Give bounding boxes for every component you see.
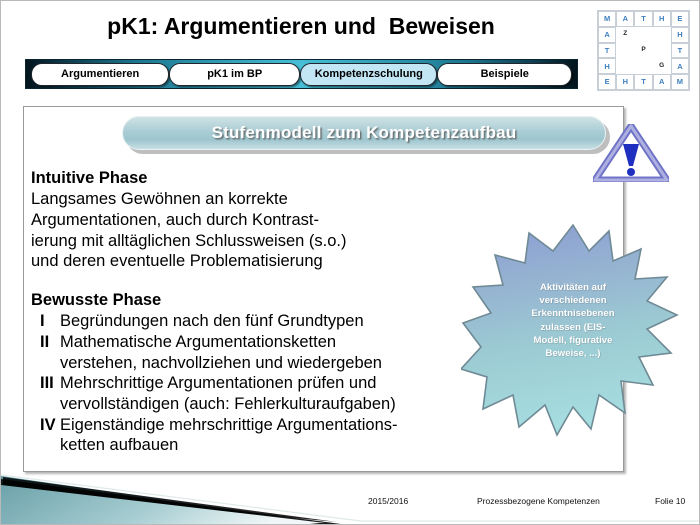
warning-triangle-icon [593,124,669,182]
logo-cell-inner: G [653,58,671,74]
list-item-body: Mathematische Argumentationsketten verst… [60,332,481,373]
section-banner-pill: Stufenmodell zum Kompetenzaufbau [122,116,606,150]
logo-cell-blank [616,58,634,74]
intuitive-phase-line: Langsames Gewöhnen an korrekte [31,189,451,210]
list-item-line: verstehen, nachvollziehen und wiedergebe… [60,353,481,374]
list-item: I Begründungen nach den fünf Grundtypen [31,311,481,332]
navigation-bar: Argumentieren pK1 im BP Kompetenzschulun… [25,59,578,89]
logo-cell: A [671,58,689,74]
bewusste-phase-heading: Bewusste Phase [31,291,481,310]
intuitive-phase-line: und deren eventuelle Problematisierung [31,251,451,272]
mathe-zpg-logo[interactable]: M A T H E A Z H T P T H G A E H T A M [597,10,690,91]
page-title: pK1: Argumentieren und Beweisen [21,13,581,40]
logo-cell: M [598,11,616,27]
logo-cell: A [616,11,634,27]
list-item: III Mehrschrittige Argumentationen prüfe… [31,373,481,414]
star-callout-line: zulassen (EIS- [505,321,641,334]
list-item-body: Eigenständige mehrschrittige Argumentati… [60,415,481,456]
bewusste-phase-list: I Begründungen nach den fünf Grundtypen … [31,311,481,456]
list-item: IV Eigenständige mehrschrittige Argument… [31,415,481,456]
section-banner: Stufenmodell zum Kompetenzaufbau [122,116,610,154]
logo-cell: A [653,74,671,90]
list-item: II Mathematische Argumentationsketten ve… [31,332,481,373]
logo-cell: A [598,27,616,43]
footer-page-number: Folie 10 [655,496,685,506]
star-callout-line: verschiedenen [505,294,641,307]
footer-year: 2015/2016 [368,496,408,506]
star-callout: Aktivitäten auf verschiedenen Erkenntnis… [461,223,683,441]
star-callout-line: Erkenntnisebenen [505,307,641,320]
slide-canvas: pK1: Argumentieren und Beweisen M A T H … [0,0,700,525]
logo-cell-blank [653,27,671,43]
logo-cell: T [671,43,689,59]
logo-cell: E [598,74,616,90]
nav-button-kompetenzschulung[interactable]: Kompetenzschulung [300,63,437,86]
logo-cell-blank [634,58,652,74]
list-item-line: Mathematische Argumentationsketten [60,332,481,353]
logo-cell: T [598,43,616,59]
star-callout-line: Modell, figurative [505,334,641,347]
logo-cell-inner: Z [616,27,634,43]
list-item-line: ketten aufbauen [60,435,481,456]
list-item-numeral: II [31,332,60,353]
intuitive-phase-line: ierung mit alltäglichen Schlussweisen (s… [31,231,451,252]
section-banner-label: Stufenmodell zum Kompetenzaufbau [212,123,517,143]
star-callout-text: Aktivitäten auf verschiedenen Erkenntnis… [505,281,641,360]
logo-cell: H [616,74,634,90]
list-item-line: vervollständigen (auch: Fehlerkulturaufg… [60,394,481,415]
nav-button-beispiele[interactable]: Beispiele [437,63,572,86]
list-item-body: Mehrschrittige Argumentationen prüfen un… [60,373,481,414]
logo-cell: E [671,11,689,27]
list-item-line: Begründungen nach den fünf Grundtypen [60,311,481,332]
logo-cell: H [653,11,671,27]
intuitive-phase-line: Argumentationen, auch durch Kontrast- [31,210,451,231]
intuitive-phase-block: Intuitive Phase Langsames Gewöhnen an ko… [31,169,451,272]
logo-cell: T [634,74,652,90]
nav-button-argumentieren[interactable]: Argumentieren [31,63,169,86]
list-item-line: Mehrschrittige Argumentationen prüfen un… [60,373,481,394]
logo-cell-inner: P [634,43,652,59]
logo-cell-blank [616,43,634,59]
nav-button-pk1-im-bp[interactable]: pK1 im BP [169,63,300,86]
logo-cell-blank [653,43,671,59]
logo-cell: H [598,58,616,74]
footer-subject: Prozessbezogene Kompetenzen [477,496,600,506]
list-item-numeral: III [31,373,60,394]
intuitive-phase-heading: Intuitive Phase [31,169,451,188]
logo-cell: H [671,27,689,43]
logo-cell: M [671,74,689,90]
bewusste-phase-block: Bewusste Phase I Begründungen nach den f… [31,291,481,456]
list-item-body: Begründungen nach den fünf Grundtypen [60,311,481,332]
logo-cell-blank [634,27,652,43]
list-item-numeral: I [31,311,60,332]
star-callout-line: Aktivitäten auf [505,281,641,294]
logo-cell: T [634,11,652,27]
list-item-numeral: IV [31,415,60,436]
list-item-line: Eigenständige mehrschrittige Argumentati… [60,415,481,436]
star-callout-line: Beweise, ...) [505,347,641,360]
